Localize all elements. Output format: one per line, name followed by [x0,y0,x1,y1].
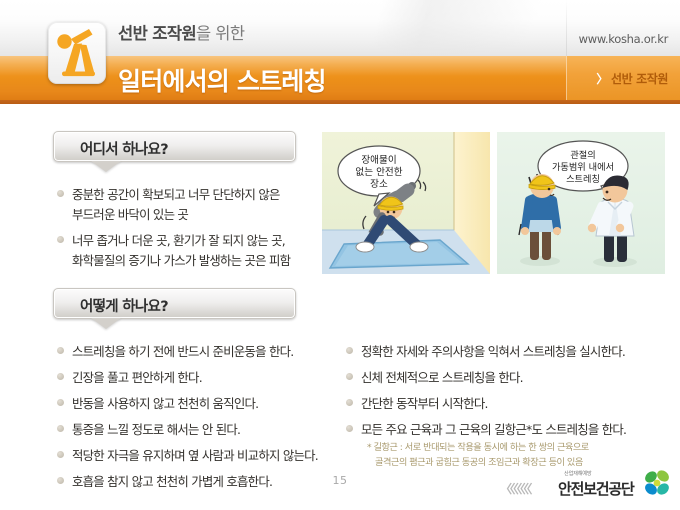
org-name: 안전보건공단 [558,478,634,499]
list-item-text: 신체 전체적으로 스트레칭을 한다. [361,370,523,385]
list-item: 모든 주요 근육과 그 근육의 길항근*도 스트레칭을 한다. [345,419,655,439]
header-underline [0,100,680,104]
list-item-text: 간단한 동작부터 시작한다. [361,396,488,411]
svg-text:장소: 장소 [370,179,388,190]
footnote-block: * 길항근 : 서로 반대되는 작용을 동시에 하는 한 쌍의 근육으로 골격근… [367,441,655,471]
list-item-text: 중분한 공간이 확보되고 너무 단단하지 않은 부드러운 바닥이 있는 곳 [72,187,280,222]
bullet-dot-icon [57,190,64,197]
section-how-bullets-right: 정확한 자세와 주의사항을 익혀서 스트레칭을 실시한다. 신체 전체적으로 스… [345,341,655,471]
list-item-text: 반동을 사용하지 않고 천천히 움직인다. [72,396,258,411]
section-how-header: 어떻게 하나요? [53,288,296,319]
header-subtitle-rest: 을 위한 [196,24,244,43]
header-category-label: 선반 조작원 [611,72,668,86]
section-how-title: 어떻게 하나요? [80,295,168,316]
list-item-text: 너무 좁거나 더운 곳, 환기가 잘 되지 않는 곳, 화학물질의 증기나 가스… [72,233,290,268]
list-item: 스트레칭을 하기 전에 반드시 준비운동을 한다. [56,341,326,361]
list-item-text: 모든 주요 근육과 그 근육의 길항근*도 스트레칭을 한다. [361,422,626,437]
list-item-text: 정확한 자세와 주의사항을 익혀서 스트레칭을 실시한다. [361,344,625,359]
list-item: 통증을 느낄 정도로 해서는 안 된다. [56,419,326,439]
slide-canvas: 선반 조작원을 위한 일터에서의 스트레칭 www.kosha.or.kr 〉선… [0,0,680,510]
list-item: 정확한 자세와 주의사항을 익혀서 스트레칭을 실시한다. [345,341,655,361]
bullet-dot-icon [346,347,353,354]
bullet-dot-icon [57,451,64,458]
list-item: 신체 전체적으로 스트레칭을 한다. [345,367,655,387]
section-where-tab[interactable]: 어디서 하나요? [53,131,296,162]
chevron-right-icon: 〉 [596,72,608,86]
org-tagline: 산업재해예방 [564,470,591,477]
list-item-text: 적당한 자극을 유지하며 옆 사람과 비교하지 않는다. [72,448,318,463]
list-item: 반동을 사용하지 않고 천천히 움직인다. [56,393,326,413]
bullet-dot-icon [57,347,64,354]
section-where-title: 어디서 하나요? [80,138,168,159]
header-subtitle: 선반 조작원을 위한 [118,20,244,44]
svg-text:없는 안전한: 없는 안전한 [355,166,402,178]
footnote-line: * 길항근 : 서로 반대되는 작용을 동시에 하는 한 쌍의 근육으로 [367,441,655,456]
svg-text:장애물이: 장애물이 [361,155,396,166]
header-category-tag: 〉선반 조작원 [596,70,668,87]
page-title: 일터에서의 스트레칭 [118,62,326,98]
header-top-divider [566,0,567,56]
list-item-text: 긴장을 풀고 편안하게 한다. [72,370,202,385]
slide-header: 선반 조작원을 위한 일터에서의 스트레칭 www.kosha.or.kr 〉선… [0,0,680,104]
kosha-clover-mark-icon [642,468,672,502]
list-item: 간단한 동작부터 시작한다. [345,393,655,413]
section-where-bullets: 중분한 공간이 확보되고 너무 단단하지 않은 부드러운 바닥이 있는 곳 너무… [56,184,306,276]
bullet-dot-icon [57,425,64,432]
section-how-tab[interactable]: 어떻게 하나요? [53,288,296,319]
list-item: 적당한 자극을 유지하며 옆 사람과 비교하지 않는다. [56,445,326,465]
list-item-text: 스트레칭을 하기 전에 반드시 준비운동을 한다. [72,344,293,359]
worker-stretching-on-mat-illustration: 장애물이 없는 안전한 장소 [322,132,490,274]
bullet-dot-icon [57,373,64,380]
header-website-url[interactable]: www.kosha.or.kr [579,32,668,46]
bullet-dot-icon [346,373,353,380]
list-item: 너무 좁거나 더운 곳, 환기가 잘 되지 않는 곳, 화학물질의 증기나 가스… [56,230,306,270]
bullet-dot-icon [57,236,64,243]
section-where-header: 어디서 하나요? [53,131,296,162]
bullet-dot-icon [346,399,353,406]
bullet-dot-icon [346,425,353,432]
list-item: 중분한 공간이 확보되고 너무 단단하지 않은 부드러운 바닥이 있는 곳 [56,184,306,224]
stretching-person-icon [48,22,106,84]
list-item-text: 통증을 느낄 정도로 해서는 안 된다. [72,422,240,437]
bullet-dot-icon [57,399,64,406]
list-item: 긴장을 풀고 편안하게 한다. [56,367,326,387]
svg-text:스트레칭: 스트레칭 [566,174,600,185]
doctor-advising-worker-illustration: 관절의 가동범위 내에서 스트레칭 [497,132,665,274]
section-where-notch [91,161,121,172]
svg-text:관절의: 관절의 [570,149,595,161]
kosha-footer-logo: 〈〈〈〈〈〈〈 산업재해예방 안전보건공단 [500,468,672,502]
section-how-notch [91,318,121,329]
chevrons-decoration-icon: 〈〈〈〈〈〈〈 [500,480,530,497]
header-subtitle-strong: 선반 조작원 [118,24,196,43]
svg-text:가동범위 내에서: 가동범위 내에서 [552,162,614,173]
